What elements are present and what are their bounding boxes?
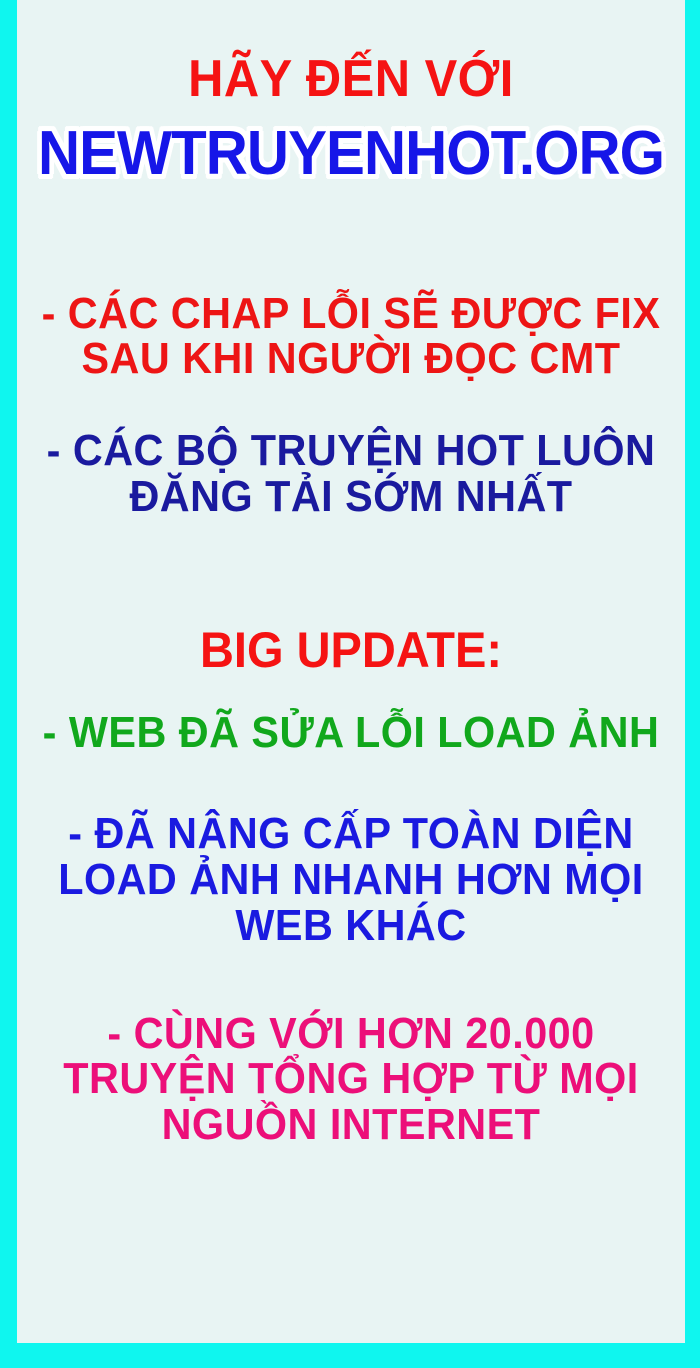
poster-panel: HÃY ĐẾN VỚI NEWTRUYENHOT.ORG - CÁC CHAP … [17, 0, 685, 1343]
promo-poster: HÃY ĐẾN VỚI NEWTRUYENHOT.ORG - CÁC CHAP … [0, 0, 700, 1368]
update-item-story-count: - CÙNG VỚI HƠN 20.000 TRUYỆN TỔNG HỢP TỪ… [37, 1011, 665, 1148]
notice-fix-chapters: - CÁC CHAP LỖI SẼ ĐƯỢC FIX SAU KHI NGƯỜI… [37, 291, 665, 383]
site-name-text: NEWTRUYENHOT.ORG [37, 122, 665, 186]
big-update-title: BIG UPDATE: [37, 624, 665, 676]
notice-hot-series: - CÁC BỘ TRUYỆN HOT LUÔN ĐĂNG TẢI SỚM NH… [37, 428, 665, 520]
update-item-full-upgrade: - ĐÃ NÂNG CẤP TOÀN DIỆN LOAD ẢNH NHANH H… [37, 811, 665, 948]
headline-invite-text: HÃY ĐẾN VỚI [37, 52, 665, 106]
update-item-image-load-fixed: - WEB ĐÃ SỬA LỖI LOAD ẢNH [37, 710, 665, 756]
